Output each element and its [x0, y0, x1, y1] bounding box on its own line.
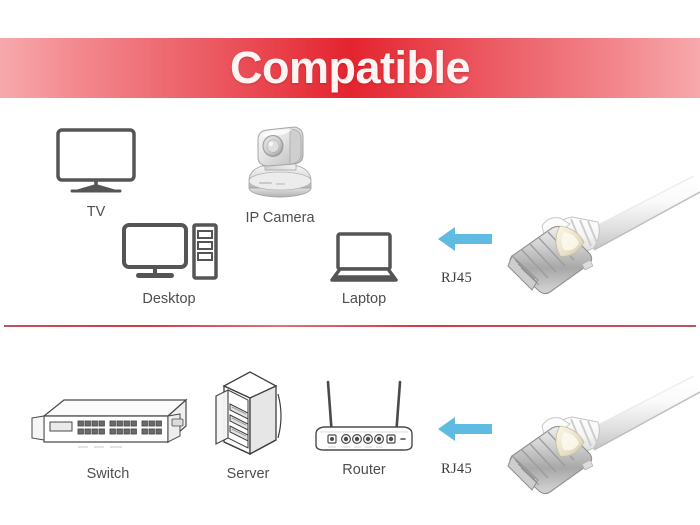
arrow-left-icon-top — [436, 224, 494, 254]
header-banner: Compatible — [0, 38, 700, 98]
section-divider — [4, 325, 696, 327]
router-icon — [308, 374, 420, 456]
server-icon — [208, 368, 288, 460]
arrow-left-icon-bottom — [436, 414, 494, 444]
device-ip-camera: IP Camera — [232, 118, 328, 226]
device-switch: Switch — [22, 386, 194, 482]
device-tv: TV — [42, 126, 150, 220]
device-label-server: Server — [208, 466, 288, 482]
connector-label-rj45-bottom: RJ45 — [441, 461, 472, 478]
device-label-tv: TV — [42, 204, 150, 220]
device-router: Router — [308, 374, 420, 478]
switch-icon — [22, 386, 194, 458]
device-laptop: Laptop — [318, 232, 410, 307]
device-desktop: Desktop — [110, 222, 228, 307]
device-label-desktop: Desktop — [110, 291, 228, 307]
compatibility-diagram: Compatible TV — [0, 0, 700, 525]
device-label-ip-camera: IP Camera — [232, 210, 328, 226]
device-server: Server — [208, 368, 288, 482]
desktop-icon — [110, 222, 228, 284]
device-label-switch: Switch — [22, 466, 194, 482]
rj45-cable-icon-bottom — [498, 370, 700, 502]
device-label-router: Router — [308, 462, 420, 478]
page-title: Compatible — [0, 38, 700, 98]
laptop-icon — [318, 232, 410, 284]
ip-camera-icon — [232, 118, 328, 204]
tv-icon — [42, 126, 150, 198]
connector-label-rj45-top: RJ45 — [441, 270, 472, 287]
rj45-cable-icon-top — [498, 170, 700, 302]
device-label-laptop: Laptop — [318, 291, 410, 307]
